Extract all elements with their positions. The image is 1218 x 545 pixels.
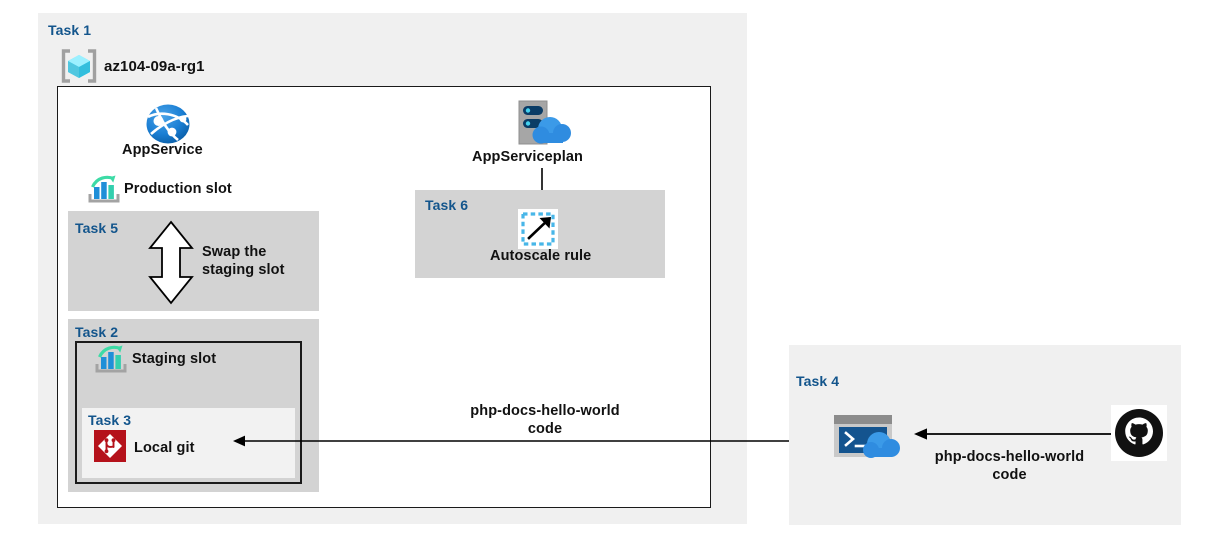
app-service-plan-icon [512,99,572,147]
task1-label: Task 1 [48,22,91,38]
edge-label-gh-line1: php-docs-hello-world [907,448,1112,466]
task4-label: Task 4 [796,373,839,389]
task3-label: Task 3 [88,412,131,428]
staging-slot-label: Staging slot [132,351,216,367]
swap-slot-label-line1: Swap the [202,243,322,261]
deployment-slot-icon-production [88,175,120,205]
swap-slot-label-line2: staging slot [202,261,322,279]
app-service-plan-label: AppServiceplan [472,149,583,165]
edge-label-github-to-cloudshell: php-docs-hello-world code [907,448,1112,484]
edge-cloudshell-to-localgit [232,433,822,449]
cloud-shell-icon [832,413,904,461]
edge-github-to-cloudshell [913,426,1113,442]
diagram-canvas: Task 1 az104-09a-rg1 [0,0,1218,545]
autoscale-rule-label: Autoscale rule [490,248,591,264]
task6-label: Task 6 [425,197,468,213]
swap-slot-label: Swap the staging slot [202,243,322,279]
autoscale-icon [518,209,558,249]
resource-group-label: az104-09a-rg1 [104,58,205,75]
git-repository-icon [94,430,126,462]
local-git-label: Local git [134,440,195,456]
app-service-icon [145,103,191,145]
github-icon [1111,405,1167,461]
up-down-arrow-icon [146,220,196,305]
edge-label-line1: php-docs-hello-world [440,402,650,420]
resource-group-icon [60,48,98,84]
edge-label-gh-line2: code [907,466,1112,484]
deployment-slot-icon-staging [95,345,127,375]
production-slot-label: Production slot [124,181,232,197]
task5-label: Task 5 [75,220,118,236]
app-service-label: AppService [122,142,203,158]
task2-label: Task 2 [75,324,118,340]
